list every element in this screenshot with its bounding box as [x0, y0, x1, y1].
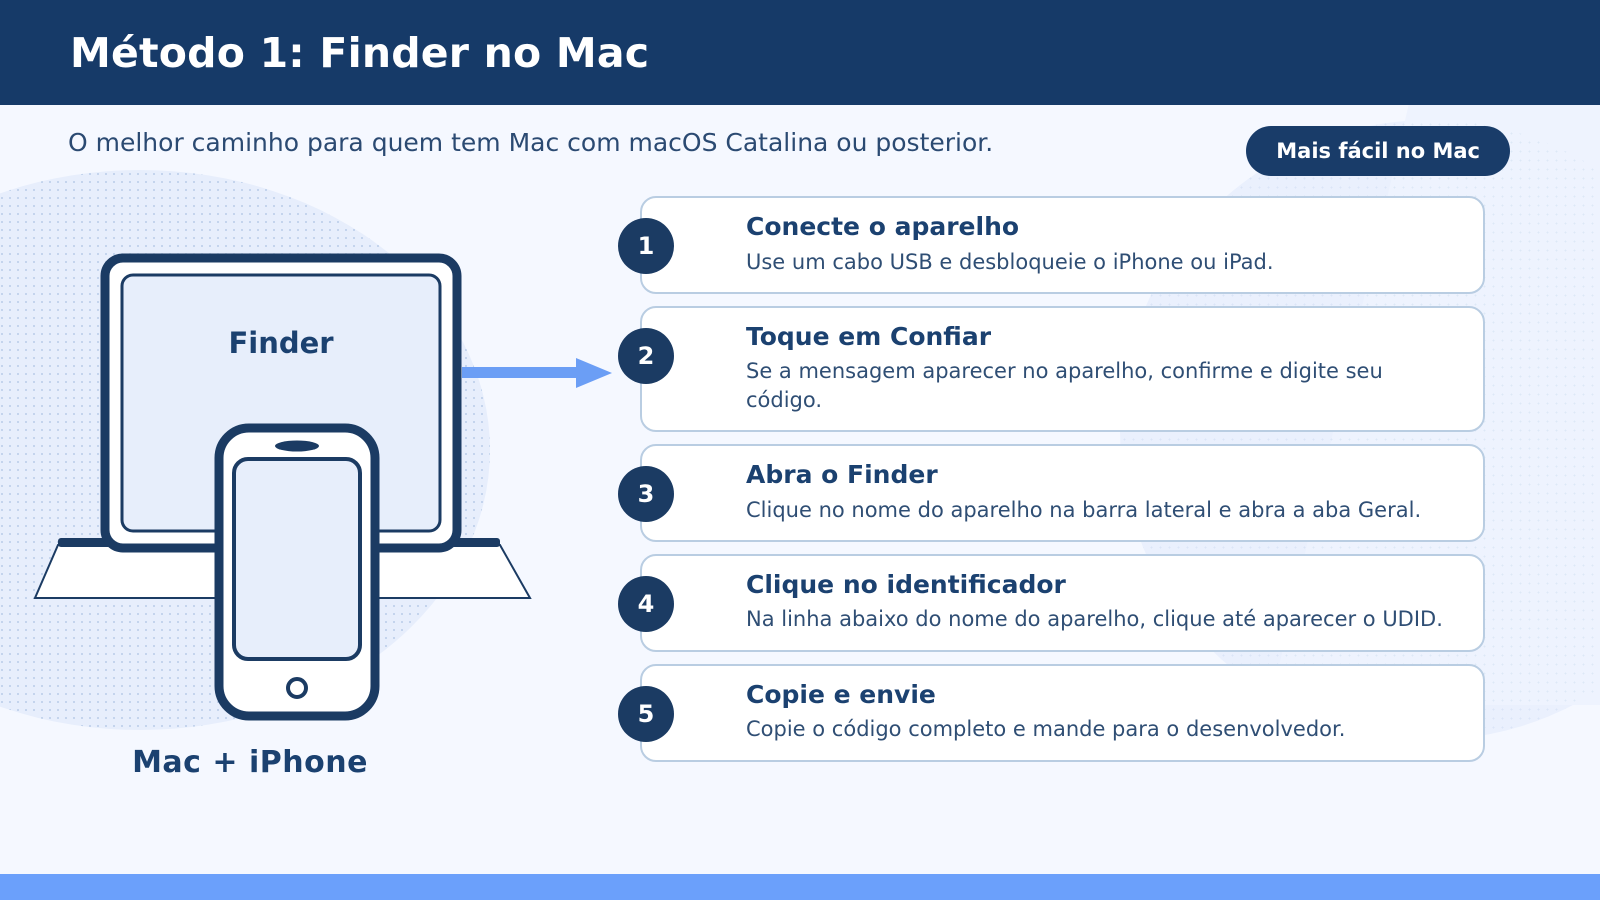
step-card-2[interactable]: 2 Toque em Confiar Se a mensagem aparece… — [640, 306, 1485, 432]
step-number-badge-5: 5 — [618, 686, 674, 742]
step-number-badge-2: 2 — [618, 328, 674, 384]
step-card-1[interactable]: 1 Conecte o aparelho Use um cabo USB e d… — [640, 196, 1485, 294]
step-card-4[interactable]: 4 Clique no identificador Na linha abaix… — [640, 554, 1485, 652]
page-subtitle: O melhor caminho para quem tem Mac com m… — [68, 128, 993, 157]
iphone-icon — [219, 428, 375, 716]
step-card-5[interactable]: 5 Copie e envie Copie o código completo … — [640, 664, 1485, 762]
step-number-badge-4: 4 — [618, 576, 674, 632]
bottom-accent-bar — [0, 874, 1600, 900]
page-title: Método 1: Finder no Mac — [70, 29, 649, 77]
step-number-badge-1: 1 — [618, 218, 674, 274]
device-illustration: Finder — [0, 180, 640, 820]
screen-label-text: Finder — [228, 326, 334, 360]
step-description-4: Na linha abaixo do nome do aparelho, cli… — [746, 605, 1446, 633]
illustration-caption: Mac + iPhone — [0, 745, 500, 780]
flow-arrow-icon — [462, 358, 612, 388]
step-title-1: Conecte o aparelho — [746, 212, 1457, 242]
step-description-1: Use um cabo USB e desbloqueie o iPhone o… — [746, 248, 1446, 276]
step-number-badge-3: 3 — [618, 466, 674, 522]
step-title-5: Copie e envie — [746, 680, 1457, 710]
step-card-3[interactable]: 3 Abra o Finder Clique no nome do aparel… — [640, 444, 1485, 542]
status-badge: Mais fácil no Mac — [1246, 126, 1510, 176]
page-header: Método 1: Finder no Mac — [0, 0, 1600, 105]
step-title-3: Abra o Finder — [746, 460, 1457, 490]
step-title-4: Clique no identificador — [746, 570, 1457, 600]
steps-list: 1 Conecte o aparelho Use um cabo USB e d… — [640, 196, 1485, 774]
step-description-2: Se a mensagem aparecer no aparelho, conf… — [746, 357, 1446, 414]
phone-speaker-icon — [275, 441, 319, 452]
step-description-5: Copie o código completo e mande para o d… — [746, 715, 1446, 743]
step-description-3: Clique no nome do aparelho na barra late… — [746, 496, 1446, 524]
step-title-2: Toque em Confiar — [746, 322, 1457, 352]
infographic-page: Método 1: Finder no Mac O melhor caminho… — [0, 0, 1600, 900]
